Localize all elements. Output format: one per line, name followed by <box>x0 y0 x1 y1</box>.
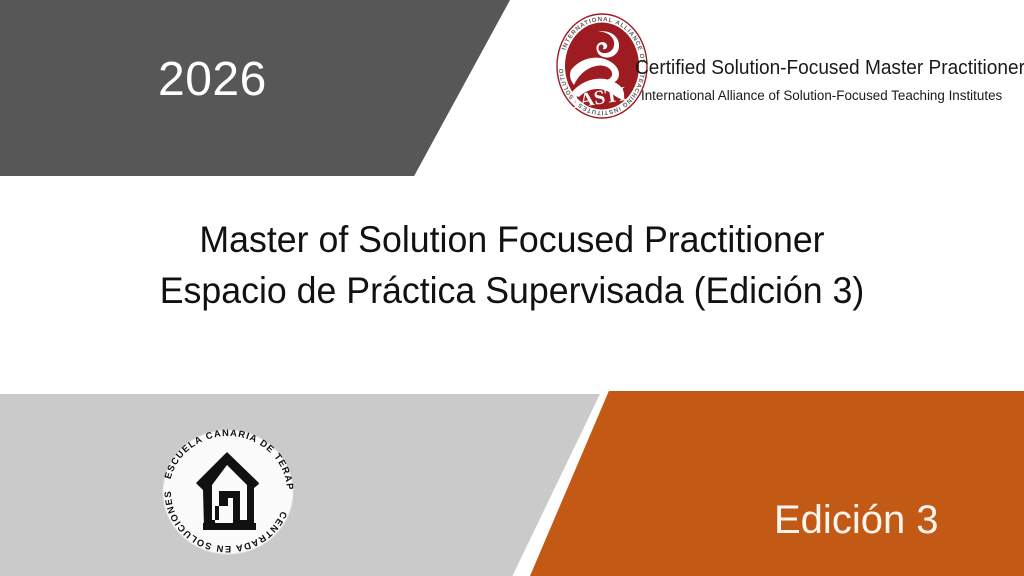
year-label: 2026 <box>158 52 267 108</box>
certification-subline: International Alliance of Solution-Focus… <box>641 86 953 106</box>
iasti-text-column: Certified Solution-Focused Master Practi… <box>635 56 971 106</box>
slide-title-line-2: Espacio de Práctica Supervisada (Edición… <box>18 265 1006 316</box>
slide-title-line-1: Master of Solution Focused Practitioner <box>18 214 1006 265</box>
certification-headline: Certified Solution-Focused Master Practi… <box>635 56 947 80</box>
iasti-certification-lockup: IASTI INTERNATIONAL ALLIANCE OF TEACHING… <box>551 6 971 124</box>
bottom-orange-band <box>525 391 1024 576</box>
slide-title-block: Master of Solution Focused Practitioner … <box>0 214 1024 316</box>
presentation-slide: 2026 IASTI INTERNATIONAL ALLIANCE OF <box>0 0 1024 576</box>
escuela-canaria-seal-icon: ESCUELA CANARIA DE TERAPIA Y PRÁCTICA CE… <box>155 424 301 560</box>
edition-badge-label: Edición 3 <box>774 496 939 544</box>
